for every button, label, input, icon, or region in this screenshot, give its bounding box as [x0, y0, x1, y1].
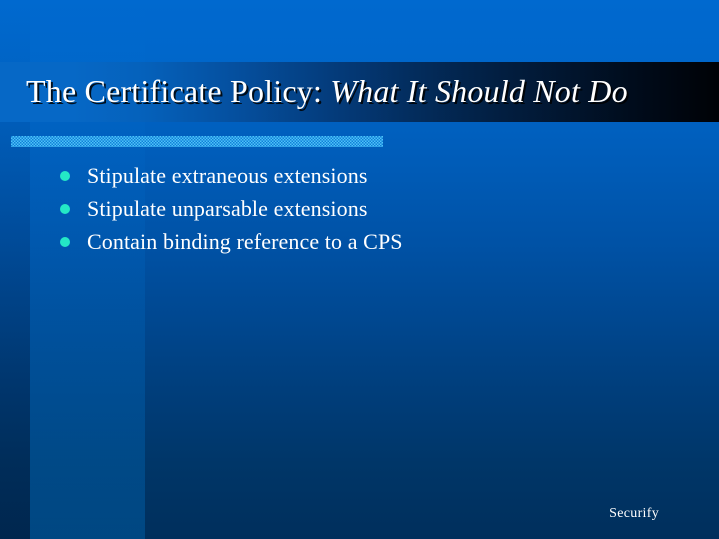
footer-brand-label: Securify — [609, 506, 659, 522]
list-item: Contain binding reference to a CPS — [60, 225, 660, 258]
bullet-dot-icon — [60, 237, 70, 247]
list-item-label: Stipulate extraneous extensions — [87, 163, 368, 189]
list-item: Stipulate unparsable extensions — [60, 192, 660, 225]
bullet-dot-icon — [60, 171, 70, 181]
presentation-slide: The Certificate Policy: What It Should N… — [0, 0, 719, 539]
list-item: Stipulate extraneous extensions — [60, 159, 660, 192]
slide-title: The Certificate Policy: What It Should N… — [26, 62, 628, 122]
slide-title-italic: What It Should Not Do — [330, 73, 628, 109]
bullet-dot-icon — [60, 204, 70, 214]
list-item-label: Contain binding reference to a CPS — [87, 229, 403, 255]
slide-title-roman: The Certificate Policy: — [26, 73, 330, 109]
bullet-list: Stipulate extraneous extensions Stipulat… — [60, 159, 660, 258]
list-item-label: Stipulate unparsable extensions — [87, 196, 368, 222]
decorative-divider-bar — [11, 136, 383, 147]
